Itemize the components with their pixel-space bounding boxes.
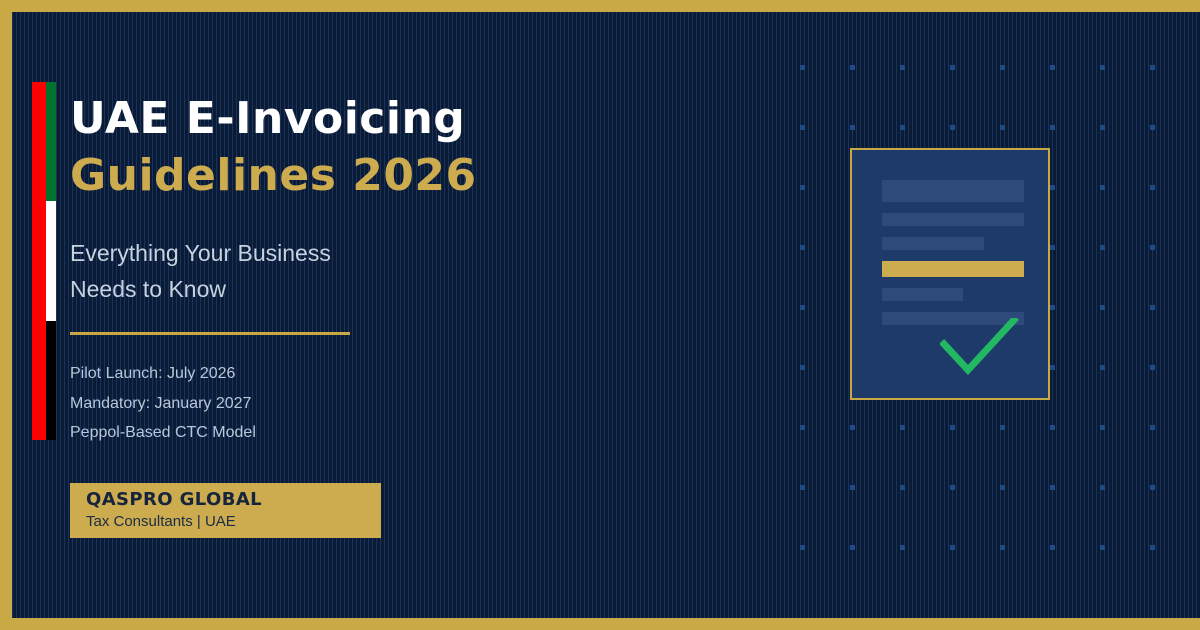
document-line [882, 213, 1024, 226]
frame-border-top [0, 0, 1200, 12]
document-line [882, 237, 984, 250]
fact-item-pilot-launch: Pilot Launch: July 2026 [70, 359, 590, 389]
page-title-line-2: Guidelines 2026 [70, 147, 590, 204]
invoice-document-graphic [850, 148, 1050, 400]
page-subtitle-line-1: Everything Your Business [70, 236, 590, 272]
flag-stripe-stack [46, 82, 56, 440]
flag-stripe-black [46, 321, 56, 440]
flag-stripe-red [32, 82, 46, 440]
key-facts-list: Pilot Launch: July 2026 Mandatory: Janua… [70, 359, 590, 449]
brand-badge: QASPRO GLOBAL Tax Consultants | UAE [70, 483, 381, 538]
brand-tagline: Tax Consultants | UAE [86, 512, 381, 532]
gold-divider-rule [70, 332, 350, 335]
page-title-line-1: UAE E-Invoicing [70, 90, 590, 147]
document-line [882, 288, 963, 301]
uae-flag-accent-bar [32, 82, 56, 440]
flag-stripe-green [46, 82, 56, 201]
page-subtitle: Everything Your Business Needs to Know [70, 236, 590, 307]
poster-canvas: UAE E-Invoicing Guidelines 2026 Everythi… [0, 0, 1200, 630]
frame-border-left [0, 0, 12, 630]
frame-border-bottom [0, 618, 1200, 630]
flag-stripe-white [46, 201, 56, 320]
document-line [882, 180, 1024, 202]
brand-company-name: QASPRO GLOBAL [86, 489, 381, 512]
document-text-lines [882, 180, 1024, 336]
check-mark-icon [940, 318, 1020, 378]
document-line-highlight [882, 261, 1024, 277]
headline-content-block: UAE E-Invoicing Guidelines 2026 Everythi… [70, 90, 590, 448]
fact-item-mandatory-date: Mandatory: January 2027 [70, 389, 590, 419]
fact-item-ctc-model: Peppol-Based CTC Model [70, 418, 590, 448]
page-subtitle-line-2: Needs to Know [70, 272, 590, 308]
